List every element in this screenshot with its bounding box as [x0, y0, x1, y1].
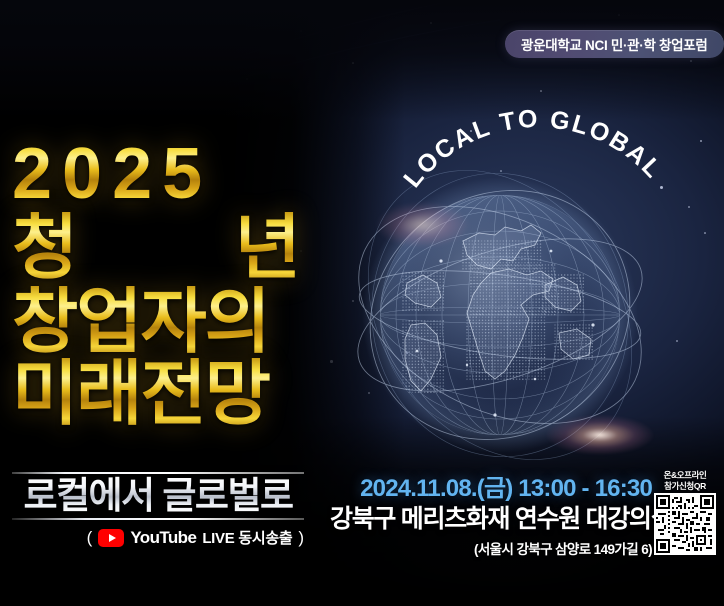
forum-badge[interactable]: 광운대학교 NCI 민·관·학 창업포럼 — [505, 30, 724, 58]
youtube-play-icon[interactable] — [98, 529, 124, 547]
event-info-block: 2024.11.08.(금) 13:00 - 16:30 강북구 메리츠화재 연… — [330, 476, 652, 558]
qr-caption-line2: 참가신청QR — [652, 481, 718, 492]
globe-arc-tagline: LOCAL TO GLOBAL — [390, 128, 680, 238]
youtube-brand-label: YouTube — [130, 528, 196, 548]
headline-outlook: 미래전망 — [12, 358, 322, 430]
qr-code-icon[interactable] — [654, 493, 716, 555]
top-fade-overlay — [0, 0, 724, 120]
broadcast-row: ( YouTube LIVE 동시송출 ) — [12, 527, 304, 548]
subtitle-rule-bottom — [12, 518, 304, 520]
globe-bottom-flare — [525, 400, 675, 470]
headline-youth-line: 청 년 — [12, 212, 300, 284]
event-poster: LOCAL TO GLOBAL 광운대학교 NCI 민·관·학 창업포럼 202… — [0, 0, 724, 606]
headline-block: 2025 청 년 창업자의 미래전망 — [12, 138, 322, 430]
event-venue: 강북구 메리츠화재 연수원 대강의실 — [330, 504, 652, 534]
event-datetime: 2024.11.08.(금) 13:00 - 16:30 — [330, 476, 652, 502]
qr-caption-line1: 온&오프라인 — [652, 470, 718, 481]
headline-year: 2025 — [12, 138, 322, 210]
headline-founder: 창업자의 — [12, 286, 322, 358]
event-address: (서울시 강북구 삼양로 149가길 6) — [330, 538, 652, 558]
subtitle-block: 로컬에서 글로벌로 — [12, 472, 304, 520]
subtitle-text: 로컬에서 글로벌로 — [12, 474, 304, 519]
broadcast-note: LIVE 동시송출 — [202, 527, 292, 548]
headline-youth-right: 년 — [235, 212, 300, 284]
headline-youth-left: 청 — [12, 212, 77, 284]
broadcast-close-paren: ) — [298, 528, 304, 548]
broadcast-open-paren: ( — [87, 528, 93, 548]
registration-qr-block[interactable]: 온&오프라인 참가신청QR — [652, 470, 718, 555]
